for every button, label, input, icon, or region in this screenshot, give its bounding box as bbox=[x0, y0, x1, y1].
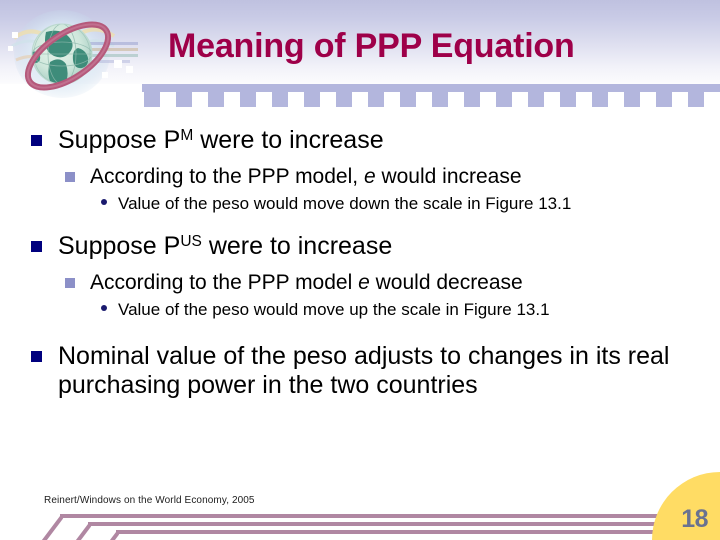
globe-icon bbox=[6, 2, 138, 110]
bullet-marker-dot-navy bbox=[101, 199, 107, 205]
bullet-text: According to the PPP model, e would incr… bbox=[90, 165, 522, 188]
footer-diagonal-1 bbox=[38, 516, 63, 540]
bullet-marker-dot-navy bbox=[101, 305, 107, 311]
bullet-suppose-pm: Suppose PM were to increase bbox=[0, 126, 720, 155]
footer-attribution: Reinert/Windows on the World Economy, 20… bbox=[44, 495, 255, 506]
bullet-text: Value of the peso would move up the scal… bbox=[118, 300, 550, 319]
superscript-us: US bbox=[180, 233, 202, 250]
superscript-m: M bbox=[180, 127, 193, 144]
variable-e: e bbox=[358, 271, 370, 294]
footer-stripe-2 bbox=[88, 522, 720, 526]
bullet-marker-square-periwinkle bbox=[65, 278, 75, 288]
bullet-marker-square-periwinkle bbox=[65, 172, 75, 182]
bullet-text: Suppose PM were to increase bbox=[58, 126, 384, 154]
page-number: 18 bbox=[681, 505, 708, 534]
bullet-marker-square-navy bbox=[31, 351, 42, 362]
slide-canvas: Meaning of PPP Equation Suppose PM were … bbox=[0, 0, 720, 540]
bullet-text: According to the PPP model e would decre… bbox=[90, 271, 523, 294]
slide-body: Suppose PM were to increase According to… bbox=[0, 112, 720, 482]
bullet-nominal-value-adjusts: Nominal value of the peso adjusts to cha… bbox=[0, 342, 720, 400]
bullet-ppp-model-e-decrease: According to the PPP model e would decre… bbox=[0, 270, 720, 295]
bullet-ppp-model-e-increase: According to the PPP model, e would incr… bbox=[0, 164, 720, 189]
slide-title: Meaning of PPP Equation bbox=[168, 26, 714, 66]
bullet-peso-move-up: Value of the peso would move up the scal… bbox=[0, 300, 720, 320]
footer-diagonal-2 bbox=[70, 524, 91, 540]
bullet-marker-square-navy bbox=[31, 241, 42, 252]
bullet-peso-move-down: Value of the peso would move down the sc… bbox=[0, 194, 720, 214]
bullet-suppose-pus: Suppose PUS were to increase bbox=[0, 232, 720, 261]
bullet-text: Value of the peso would move down the sc… bbox=[118, 194, 571, 213]
bullet-text: Nominal value of the peso adjusts to cha… bbox=[58, 342, 669, 399]
footer-stripe-3 bbox=[116, 530, 720, 534]
footer-stripe-1 bbox=[60, 514, 720, 518]
footer-stripes bbox=[0, 506, 720, 540]
footer-diagonal-3 bbox=[102, 532, 120, 540]
variable-e: e bbox=[364, 165, 376, 188]
bullet-marker-square-navy bbox=[31, 135, 42, 146]
bullet-text: Suppose PUS were to increase bbox=[58, 232, 392, 260]
